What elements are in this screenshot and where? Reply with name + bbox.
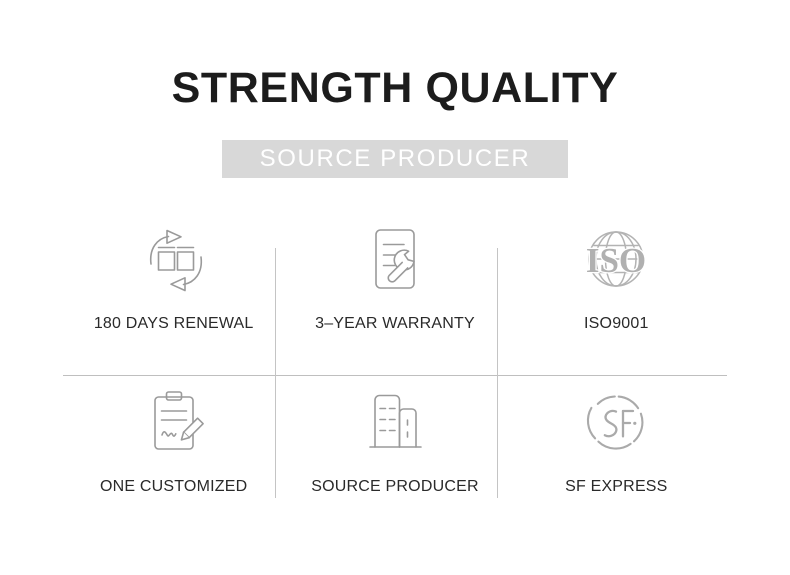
sf-express-icon bbox=[506, 375, 727, 471]
feature-label: SOURCE PRODUCER bbox=[311, 479, 478, 495]
renewal-exchange-icon bbox=[63, 212, 284, 308]
feature-cell-warranty: 3–YEAR WARRANTY bbox=[284, 212, 505, 372]
feature-cell-renewal: 180 DAYS RENEWAL bbox=[63, 212, 284, 372]
promo-banner-page: STRENGTH QUALITY SOURCE PRODUCER bbox=[0, 0, 790, 575]
feature-cell-customized: ONE CUSTOMIZED bbox=[63, 375, 284, 535]
feature-cell-sf-express: SF EXPRESS bbox=[506, 375, 727, 535]
feature-cell-iso: ISO ISO9001 bbox=[506, 212, 727, 372]
iso-globe-icon: ISO bbox=[506, 212, 727, 308]
feature-row-top: 180 DAYS RENEWAL bbox=[63, 212, 727, 372]
feature-label: SF EXPRESS bbox=[565, 479, 667, 495]
header: STRENGTH QUALITY bbox=[0, 0, 790, 111]
svg-text:ISO: ISO bbox=[586, 241, 646, 280]
feature-grid: 180 DAYS RENEWAL bbox=[63, 212, 727, 532]
document-wrench-icon bbox=[284, 212, 505, 308]
subtitle-banner: SOURCE PRODUCER bbox=[222, 140, 568, 178]
feature-cell-producer: SOURCE PRODUCER bbox=[284, 375, 505, 535]
feature-row-bottom: ONE CUSTOMIZED bbox=[63, 375, 727, 535]
feature-label: 180 DAYS RENEWAL bbox=[94, 316, 254, 332]
page-title: STRENGTH QUALITY bbox=[0, 0, 790, 111]
clipboard-pencil-icon bbox=[63, 375, 284, 471]
feature-label: ISO9001 bbox=[584, 316, 649, 332]
factory-building-icon bbox=[284, 375, 505, 471]
feature-label: ONE CUSTOMIZED bbox=[100, 479, 247, 495]
subtitle-text: SOURCE PRODUCER bbox=[260, 147, 531, 171]
feature-label: 3–YEAR WARRANTY bbox=[315, 316, 475, 332]
